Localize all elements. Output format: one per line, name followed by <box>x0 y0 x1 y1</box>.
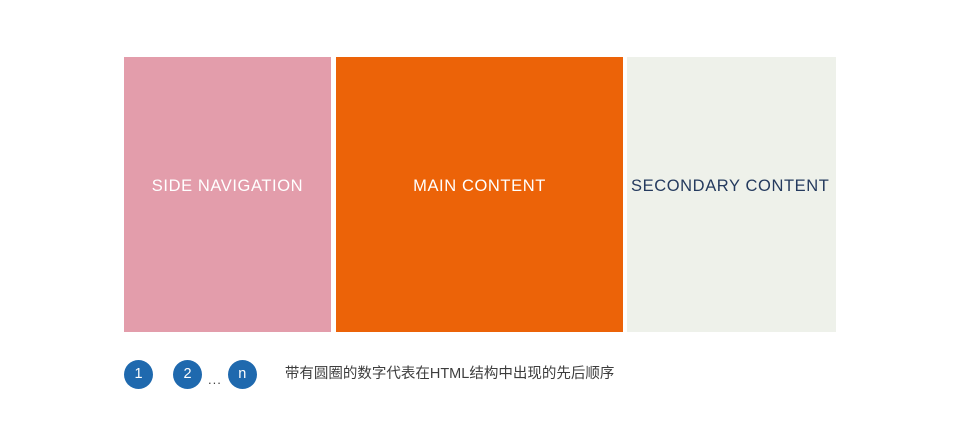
legend-badge-n: n <box>228 360 257 389</box>
legend-ellipsis: ... <box>208 373 222 386</box>
panel-side-navigation[interactable]: SIDE NAVIGATION <box>124 57 331 332</box>
legend-badge-1: 1 <box>124 360 153 389</box>
panel-side-navigation-label: SIDE NAVIGATION <box>152 178 303 195</box>
layout-panel-row: SIDE NAVIGATION MAIN CONTENT SECONDARY C… <box>124 57 836 332</box>
legend-caption: 带有圆圈的数字代表在HTML结构中出现的先后顺序 <box>285 367 614 382</box>
panel-main-content-label: MAIN CONTENT <box>413 178 546 195</box>
legend-badge-2: 2 <box>173 360 202 389</box>
panel-secondary-content-label: SECONDARY CONTENT <box>631 178 829 195</box>
panel-secondary-content[interactable]: SECONDARY CONTENT <box>627 57 836 332</box>
legend: 1 2 ... n 带有圆圈的数字代表在HTML结构中出现的先后顺序 <box>124 358 614 390</box>
diagram-canvas: SIDE NAVIGATION MAIN CONTENT SECONDARY C… <box>0 0 960 423</box>
panel-main-content[interactable]: MAIN CONTENT <box>336 57 623 332</box>
